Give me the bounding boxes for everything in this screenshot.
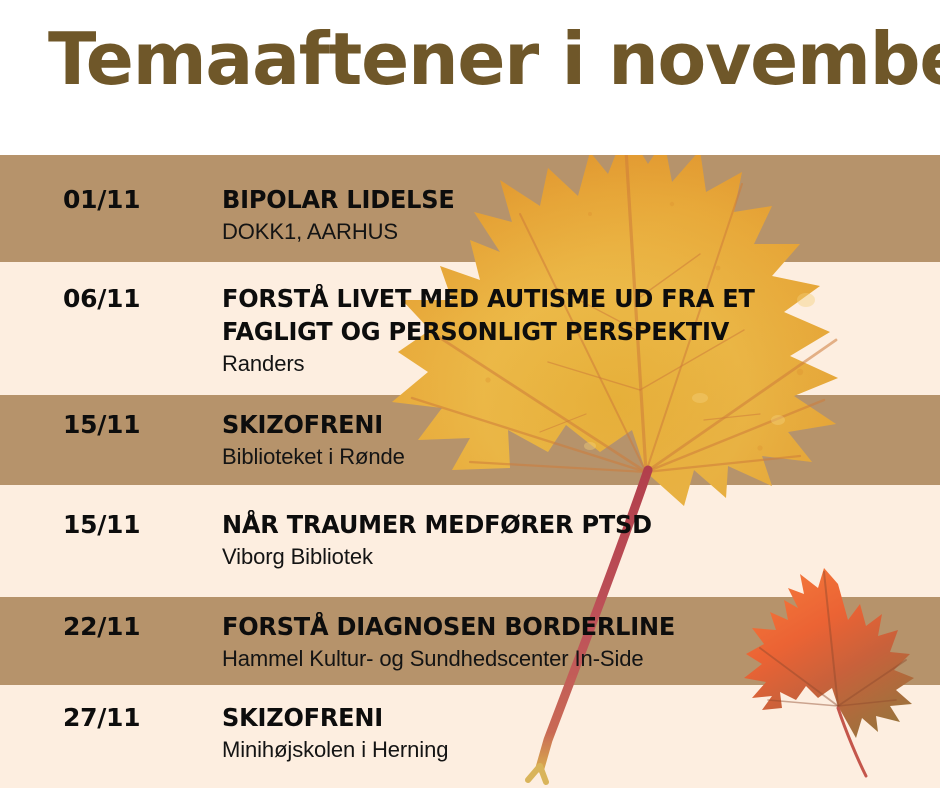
list-item: 15/11 NÅR TRAUMER MEDFØRER PTSD Viborg B… xyxy=(0,485,940,597)
event-venue: Minihøjskolen i Herning xyxy=(222,736,922,765)
poster-header: Temaaftener i november xyxy=(0,0,940,155)
list-item: 27/11 SKIZOFRENI Minihøjskolen i Herning xyxy=(0,685,940,788)
event-title: BIPOLAR LIDELSE xyxy=(222,183,894,216)
event-date: 27/11 xyxy=(63,703,140,732)
event-title: SKIZOFRENI xyxy=(222,701,894,734)
event-title: SKIZOFRENI xyxy=(222,408,894,441)
event-venue: DOKK1, AARHUS xyxy=(222,218,922,247)
list-item: 01/11 BIPOLAR LIDELSE DOKK1, AARHUS xyxy=(0,155,940,262)
list-item: 15/11 SKIZOFRENI Biblioteket i Rønde xyxy=(0,395,940,485)
event-venue: Viborg Bibliotek xyxy=(222,543,922,572)
event-body: SKIZOFRENI Minihøjskolen i Herning xyxy=(222,701,922,765)
event-venue: Hammel Kultur- og Sundhedscenter In-Side xyxy=(222,645,922,674)
list-item: 06/11 FORSTÅ LIVET MED AUTISME UD FRA ET… xyxy=(0,262,940,395)
event-body: FORSTÅ LIVET MED AUTISME UD FRA ET FAGLI… xyxy=(222,282,922,379)
event-title: FORSTÅ LIVET MED AUTISME UD FRA ET FAGLI… xyxy=(222,282,894,348)
page-title: Temaaftener i november xyxy=(48,22,940,98)
event-date: 01/11 xyxy=(63,185,140,214)
poster-canvas: Temaaftener i november 01/11 BIPOLAR LID… xyxy=(0,0,940,788)
event-body: BIPOLAR LIDELSE DOKK1, AARHUS xyxy=(222,183,922,247)
event-date: 15/11 xyxy=(63,410,140,439)
event-title: FORSTÅ DIAGNOSEN BORDERLINE xyxy=(222,610,894,643)
event-date: 15/11 xyxy=(63,510,140,539)
list-item: 22/11 FORSTÅ DIAGNOSEN BORDERLINE Hammel… xyxy=(0,597,940,685)
event-date: 22/11 xyxy=(63,612,140,641)
event-date: 06/11 xyxy=(63,284,140,313)
event-body: FORSTÅ DIAGNOSEN BORDERLINE Hammel Kultu… xyxy=(222,610,922,674)
event-venue: Randers xyxy=(222,350,922,379)
event-body: SKIZOFRENI Biblioteket i Rønde xyxy=(222,408,922,472)
event-body: NÅR TRAUMER MEDFØRER PTSD Viborg Bibliot… xyxy=(222,508,922,572)
event-venue: Biblioteket i Rønde xyxy=(222,443,922,472)
event-title: NÅR TRAUMER MEDFØRER PTSD xyxy=(222,508,894,541)
